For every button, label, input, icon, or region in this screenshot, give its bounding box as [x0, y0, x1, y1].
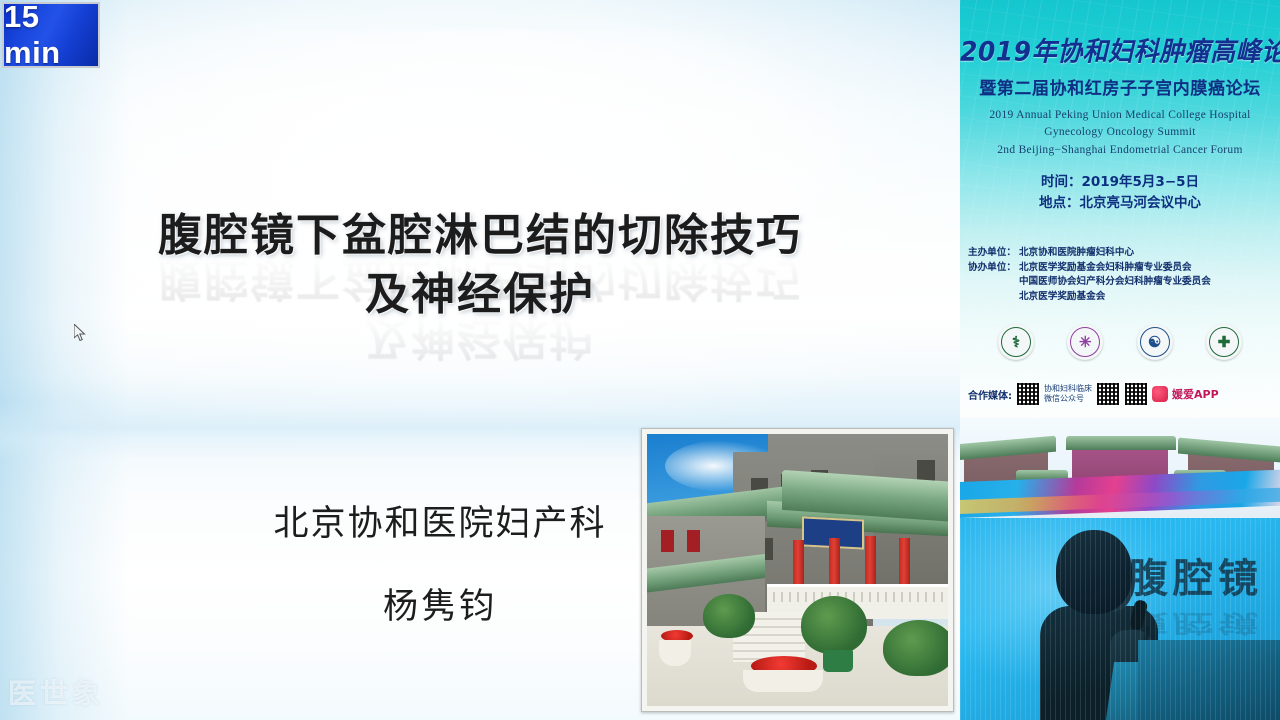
poster-english-line-1: 2019 Annual Peking Union Medical College… — [960, 107, 1280, 124]
photo-tree — [703, 594, 755, 638]
poster-logo-row: ⚕ ✳ ☯ ✚ — [998, 324, 1242, 360]
poster-organizers: 主办单位： 北京协和医院肿瘤妇科中心 协办单位： 北京医学奖励基金会妇科肿瘤专业… — [968, 246, 1280, 304]
speaker-video-feed[interactable]: 腹腔镜 腹腔镜 2019 — [960, 518, 1280, 720]
logo-glyph: ⚕ — [1012, 333, 1020, 351]
media-partners-label: 合作媒体: — [968, 387, 1012, 402]
photo-red-window — [687, 530, 700, 552]
media-qr-code-2[interactable] — [1096, 382, 1120, 406]
slide-watermark: 医世象 — [8, 672, 104, 712]
pumch-logo-icon: ⚕ — [998, 324, 1034, 360]
logo-glyph: ✳ — [1079, 333, 1092, 351]
poster-english-title: 2019 Annual Peking Union Medical College… — [960, 107, 1280, 159]
poster-host-row: 主办单位： 北京协和医院肿瘤妇科中心 — [968, 246, 1280, 261]
poster-subtitle: 暨第二届协和红房子子宫内膜癌论坛 — [960, 74, 1280, 99]
panorama-roof-center — [1066, 436, 1176, 450]
media-qr-code-3[interactable] — [1124, 382, 1148, 406]
beijing-medical-foundation-logo-icon: ✚ — [1206, 324, 1242, 360]
yuanai-app-icon — [1152, 386, 1168, 402]
poster-coorganizer-values: 北京医学奖励基金会妇科肿瘤专业委员会 中国医师协会妇产科分会妇科肿瘤专业委员会 … — [1019, 261, 1211, 305]
hospital-photo-frame — [641, 428, 954, 712]
poster-panorama — [960, 418, 1280, 518]
poster-coorganizer-value-1: 北京医学奖励基金会妇科肿瘤专业委员会 — [1019, 261, 1211, 276]
hospital-photo — [647, 434, 948, 706]
wechat-qr-code[interactable] — [1016, 382, 1040, 406]
mouse-cursor — [74, 324, 87, 342]
timer-label: 15 min — [4, 0, 98, 71]
screen-root: 腹腔镜下盆腔淋巴结的切除技巧 腹腔镜下盆腔淋巴结的切除技巧 及神经保护 及神经保… — [0, 0, 1280, 720]
wechat-account-line-2: 微信公众号 — [1044, 394, 1092, 404]
photo-red-window — [661, 530, 674, 552]
slide-title-block: 腹腔镜下盆腔淋巴结的切除技巧 腹腔镜下盆腔淋巴结的切除技巧 及神经保护 及神经保… — [0, 208, 960, 365]
video-scanlines — [960, 518, 1280, 720]
photo-tree — [883, 620, 948, 676]
media-partners-row: 合作媒体: 协和妇科临床 微信公众号 媛爱APP — [968, 382, 1272, 406]
wechat-account-line-1: 协和妇科临床 — [1044, 384, 1092, 394]
poster-time: 时间：2019年5月3−5日 — [960, 172, 1280, 193]
logo-glyph: ☯ — [1148, 333, 1161, 351]
poster-time-place: 时间：2019年5月3−5日 地点：北京亮马河会议中心 — [960, 172, 1280, 214]
right-panel: 2019年协和妇科肿瘤高峰论坛 暨第二届协和红房子子宫内膜癌论坛 2019 An… — [960, 0, 1280, 720]
cma-gynecology-logo-icon: ☯ — [1137, 324, 1173, 360]
poster-coorganizer-label: 协办单位： — [968, 261, 1016, 305]
poster-host-values: 北京协和医院肿瘤妇科中心 — [1019, 246, 1134, 261]
poster-coorganizer-value-2: 中国医师协会妇产科分会妇科肿瘤专业委员会 — [1019, 275, 1211, 290]
poster-coorganizer-row: 协办单位： 北京医学奖励基金会妇科肿瘤专业委员会 中国医师协会妇产科分会妇科肿瘤… — [968, 261, 1280, 305]
photo-urn — [659, 640, 691, 666]
poster-english-line-2: Gynecology Oncology Summit — [960, 124, 1280, 141]
poster-english-line-3: 2nd Beijing−Shanghai Endometrial Cancer … — [960, 142, 1280, 159]
wechat-account-label: 协和妇科临床 微信公众号 — [1044, 384, 1092, 403]
photo-planter — [823, 650, 853, 672]
yuanai-app-label: 媛爱APP — [1172, 386, 1219, 402]
poster-coorganizer-value-3: 北京医学奖励基金会 — [1019, 290, 1211, 305]
photo-flower-urn — [743, 670, 823, 692]
timer-badge: 15 min — [2, 2, 100, 68]
conference-poster: 2019年协和妇科肿瘤高峰论坛 暨第二届协和红房子子宫内膜癌论坛 2019 An… — [960, 0, 1280, 518]
slide-title-line-2-reflection: 及神经保护 — [0, 309, 960, 365]
medical-award-foundation-logo-icon: ✳ — [1067, 324, 1103, 360]
poster-host-value-1: 北京协和医院肿瘤妇科中心 — [1019, 246, 1134, 261]
presentation-slide: 腹腔镜下盆腔淋巴结的切除技巧 腹腔镜下盆腔淋巴结的切除技巧 及神经保护 及神经保… — [0, 0, 960, 720]
logo-glyph: ✚ — [1218, 333, 1231, 351]
slide-title-line-1-reflection: 腹腔镜下盆腔淋巴结的切除技巧 — [0, 250, 960, 306]
poster-place: 地点：北京亮马河会议中心 — [960, 193, 1280, 214]
poster-title: 2019年协和妇科肿瘤高峰论坛 — [960, 31, 1280, 69]
poster-host-label: 主办单位： — [968, 246, 1016, 261]
photo-tree — [801, 596, 867, 654]
